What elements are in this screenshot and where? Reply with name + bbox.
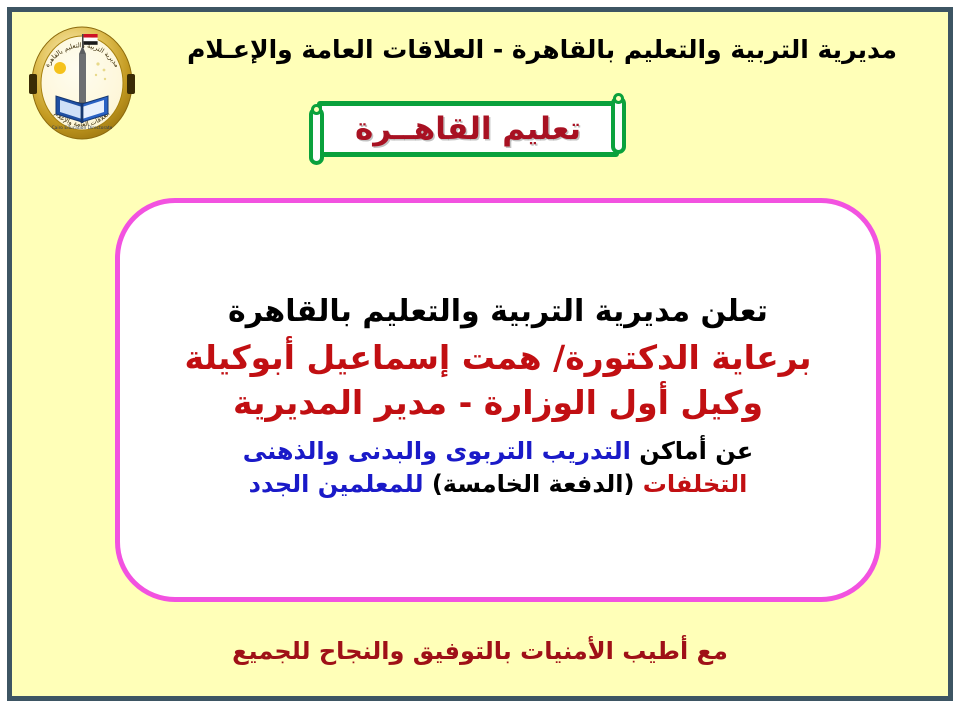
line-segment: التخلفات [634, 470, 747, 498]
poster-frame: مديرية التربية والتعليم بالقاهرة العلاقا… [7, 7, 953, 701]
line-segment: (الدفعة الخامسة) [423, 470, 634, 498]
line-segment: التدريب التربوى والبدنى والذهنى [243, 437, 631, 465]
header-bar: مديرية التربية والتعليم بالقاهرة - العلا… [142, 26, 942, 74]
title-banner: تعليم القاهــرة [303, 95, 633, 167]
line-segment: عن أماكن [631, 437, 753, 465]
ministry-logo: مديرية التربية والتعليم بالقاهرة العلاقا… [26, 24, 138, 142]
footer-message: مع أطيب الأمنيات بالتوفيق والنجاح للجميع [12, 637, 948, 665]
line-segment: وكيل أول الوزارة - مدير المديرية [233, 383, 763, 422]
poster-root: مديرية التربية والتعليم بالقاهرة العلاقا… [0, 0, 960, 720]
announcement-card: تعلن مديرية التربية والتعليم بالقاهرة بر… [115, 198, 881, 602]
banner-title: تعليم القاهــرة [303, 95, 633, 167]
line-segment: للمعلمين الجدد [249, 470, 424, 498]
line-segment: تعلن مديرية التربية والتعليم بالقاهرة [228, 294, 768, 329]
line-segment: برعاية الدكتورة/ همت إسماعيل أبوكيلة [184, 338, 811, 377]
announcement-line-patronage: برعاية الدكتورة/ همت إسماعيل أبوكيلة [184, 339, 811, 378]
svg-text:Cairo Education Directorate: Cairo Education Directorate [52, 125, 113, 131]
announcement-line-cohort-and-makeups: التخلفات (الدفعة الخامسة) للمعلمين الجدد [249, 470, 748, 498]
announcement-line-announcing-authority: تعلن مديرية التربية والتعليم بالقاهرة [228, 294, 768, 329]
announcement-line-training-locations: عن أماكن التدريب التربوى والبدنى والذهنى [243, 437, 753, 465]
announcement-line-title-position: وكيل أول الوزارة - مدير المديرية [233, 384, 763, 423]
header-title: مديرية التربية والتعليم بالقاهرة - العلا… [187, 36, 897, 64]
